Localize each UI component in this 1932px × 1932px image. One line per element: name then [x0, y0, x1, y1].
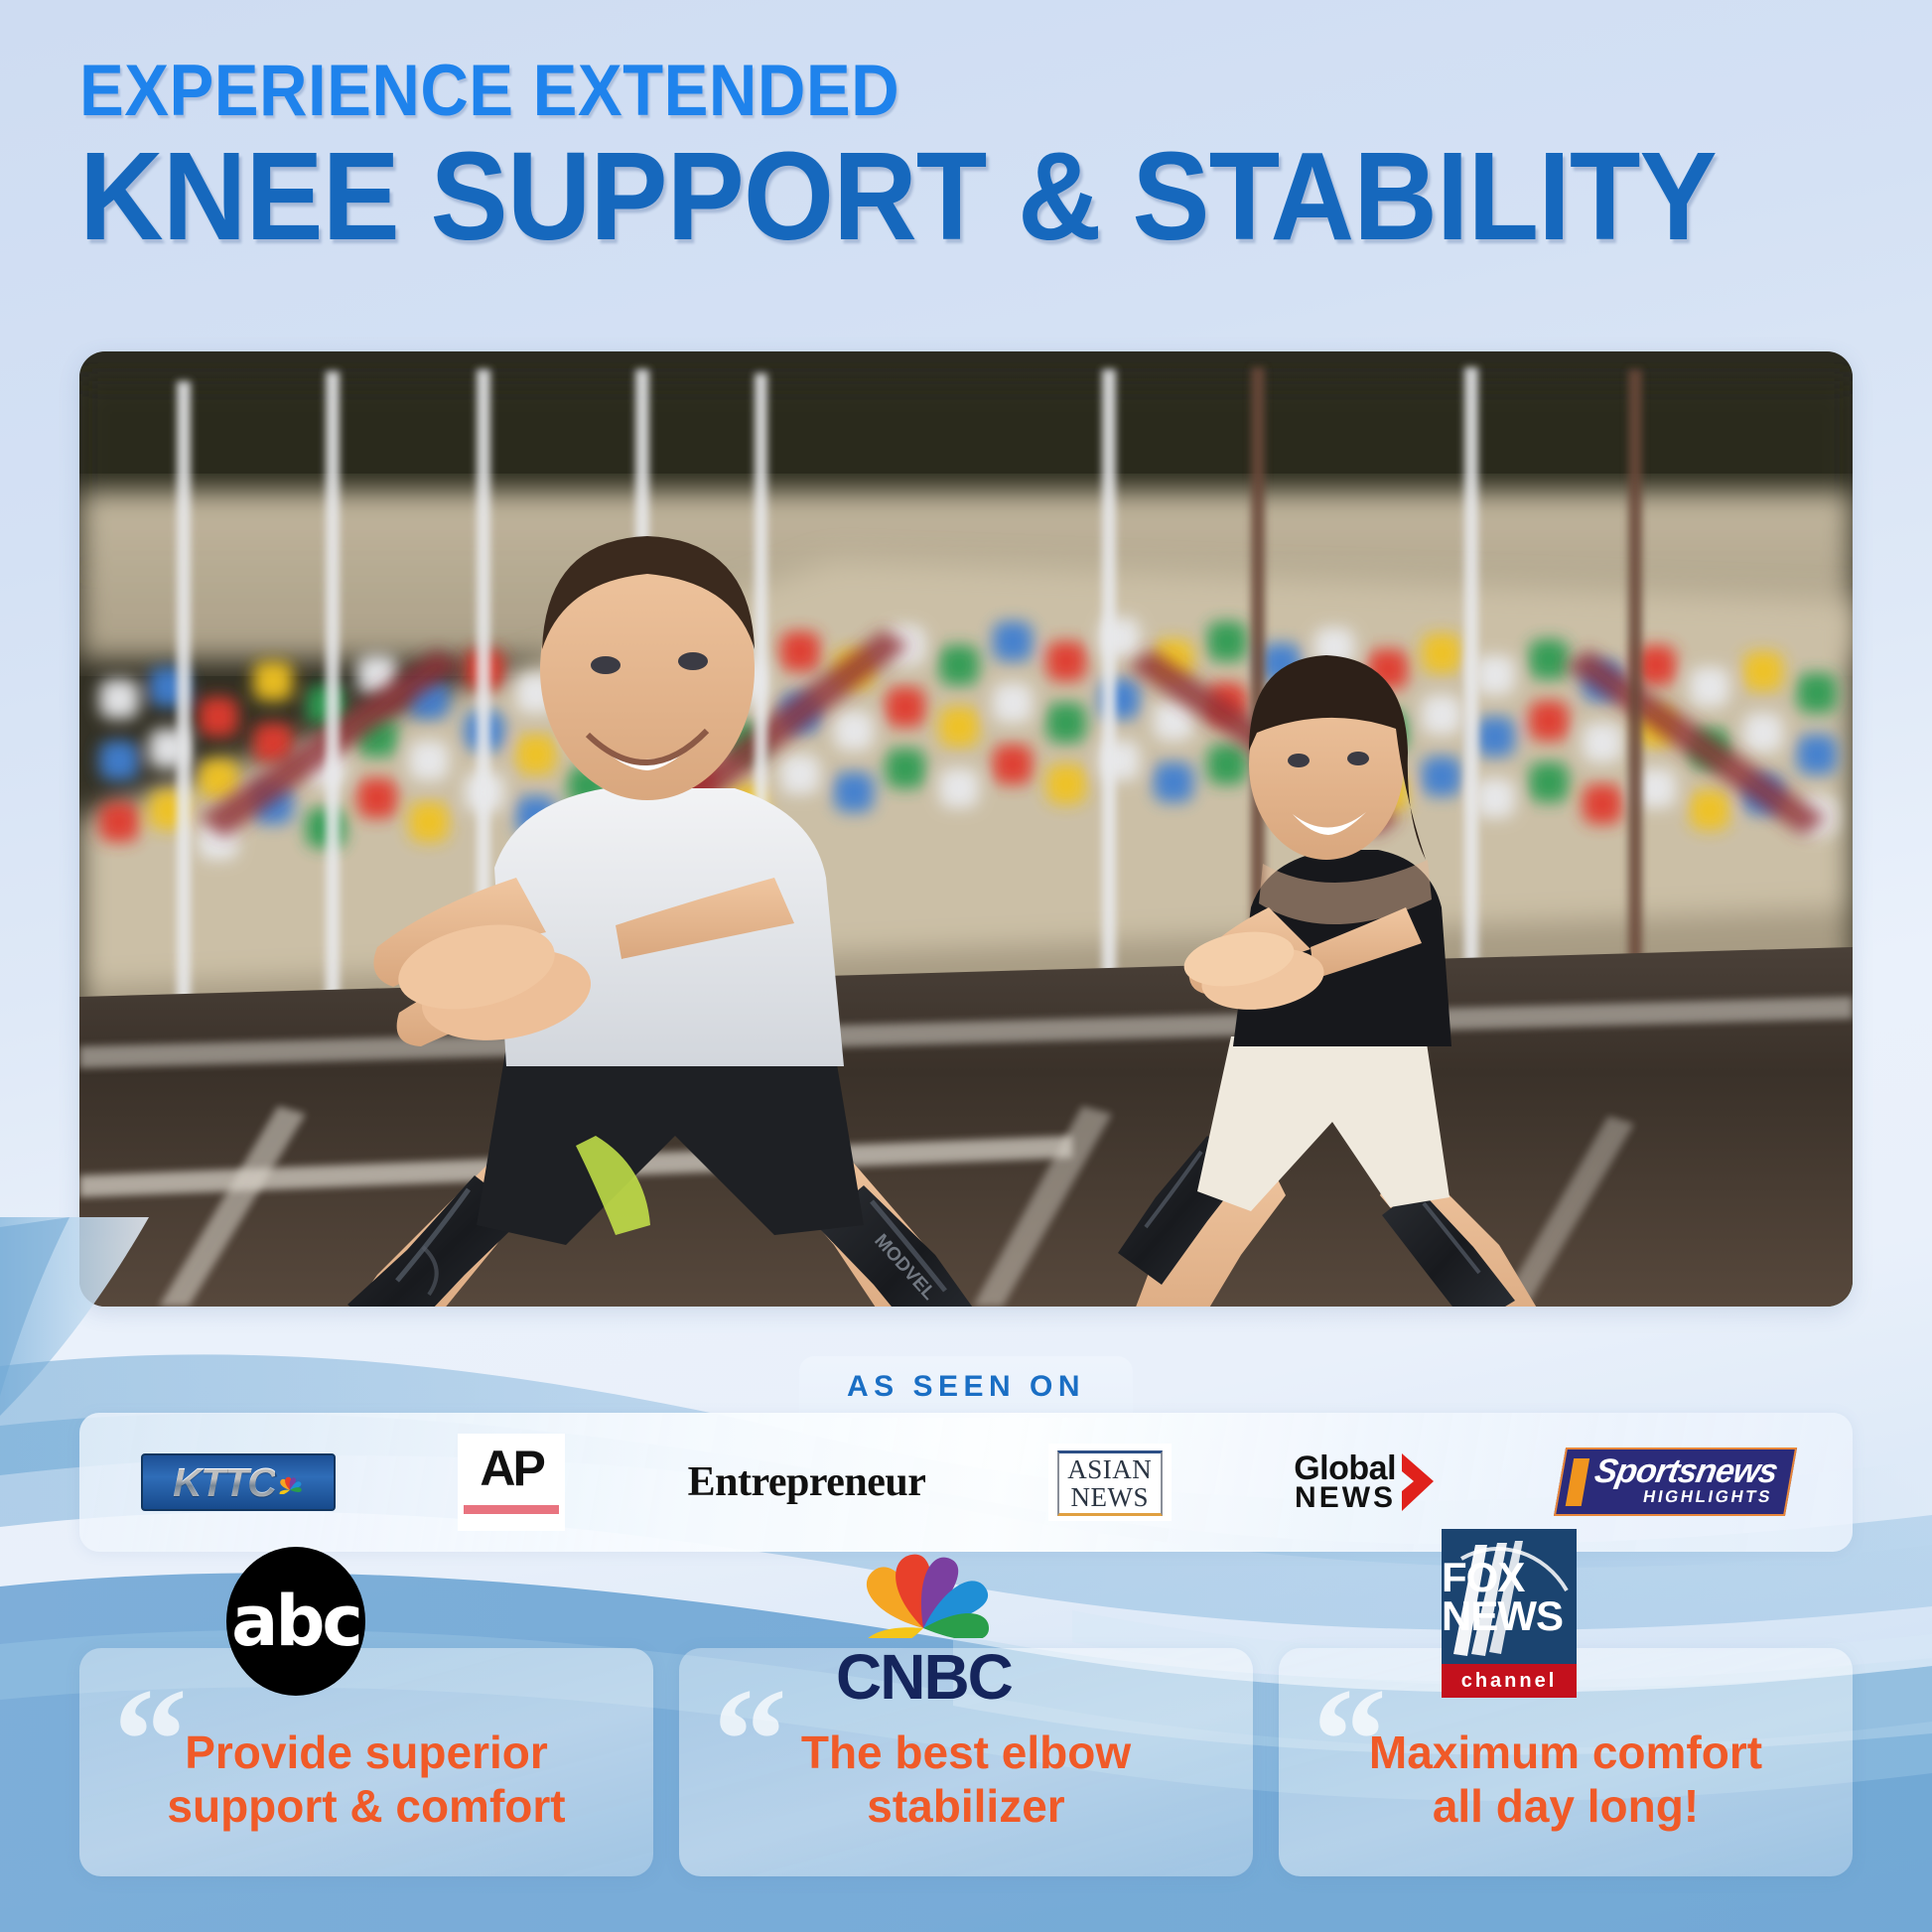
as-seen-on-banner: AS SEEN ON: [799, 1356, 1133, 1418]
global-news-line1: Global: [1294, 1452, 1396, 1484]
sportsnews-sublabel: HIGHLIGHTS: [1642, 1488, 1774, 1508]
sportsnews-logo: Sportsnews HIGHLIGHTS: [1560, 1413, 1791, 1552]
abc-logo: abc: [226, 1547, 365, 1696]
fox-channel-sublabel: channel: [1461, 1670, 1558, 1693]
global-news-line2: NEWS: [1294, 1484, 1396, 1513]
as-seen-on-label: AS SEEN ON: [847, 1370, 1085, 1404]
asian-news-line2: NEWS: [1061, 1484, 1159, 1512]
cnbc-wordmark: CNBC: [836, 1640, 1012, 1714]
asian-news-line1: ASIAN: [1061, 1456, 1159, 1484]
global-news-logo: Global NEWS: [1294, 1413, 1438, 1552]
sportsnews-orange-bar: [1566, 1458, 1589, 1506]
kttc-logo: KTTC: [141, 1413, 336, 1552]
sportsnews-bold-word: Sports: [1592, 1452, 1700, 1490]
hero-photo: MODVEL: [79, 351, 1853, 1307]
sportsnews-light-word: news: [1694, 1452, 1781, 1490]
testimonial-quote-cnbc: The best elbow stabilizer: [679, 1725, 1253, 1834]
testimonial-card-abc: “ Provide superior support & comfort: [79, 1648, 653, 1876]
nbc-peacock-icon: [849, 1533, 998, 1638]
headline-kicker: EXPERIENCE EXTENDED: [79, 55, 1724, 127]
fox-news-wordmark: FOX NEWS: [1442, 1558, 1577, 1636]
ap-red-bar: [464, 1505, 559, 1514]
media-logo-strip: KTTC AP Entrepre: [79, 1413, 1853, 1552]
cnbc-logo: CNBC: [836, 1533, 1012, 1714]
entrepreneur-wordmark: Entrepreneur: [688, 1458, 926, 1506]
chevron-right-icon: [1398, 1451, 1438, 1513]
ap-logo: AP: [458, 1413, 565, 1552]
fox-news-logo: FOX NEWS channel: [1442, 1529, 1577, 1698]
headline-block: EXPERIENCE EXTENDED KNEE SUPPORT & STABI…: [79, 55, 1866, 261]
kttc-wordmark: KTTC: [173, 1459, 275, 1506]
entrepreneur-logo: Entrepreneur: [688, 1413, 926, 1552]
page-title: KNEE SUPPORT & STABILITY: [79, 133, 1741, 261]
promo-page: MODVEL: [0, 0, 1932, 1932]
asian-news-logo: ASIAN NEWS: [1048, 1413, 1172, 1552]
ap-wordmark: AP: [480, 1444, 542, 1493]
abc-wordmark: abc: [231, 1581, 360, 1662]
nbc-peacock-icon: [277, 1470, 303, 1494]
testimonial-quote-fox: Maximum comfort all day long!: [1279, 1725, 1853, 1834]
testimonial-quote-abc: Provide superior support & comfort: [79, 1725, 653, 1834]
